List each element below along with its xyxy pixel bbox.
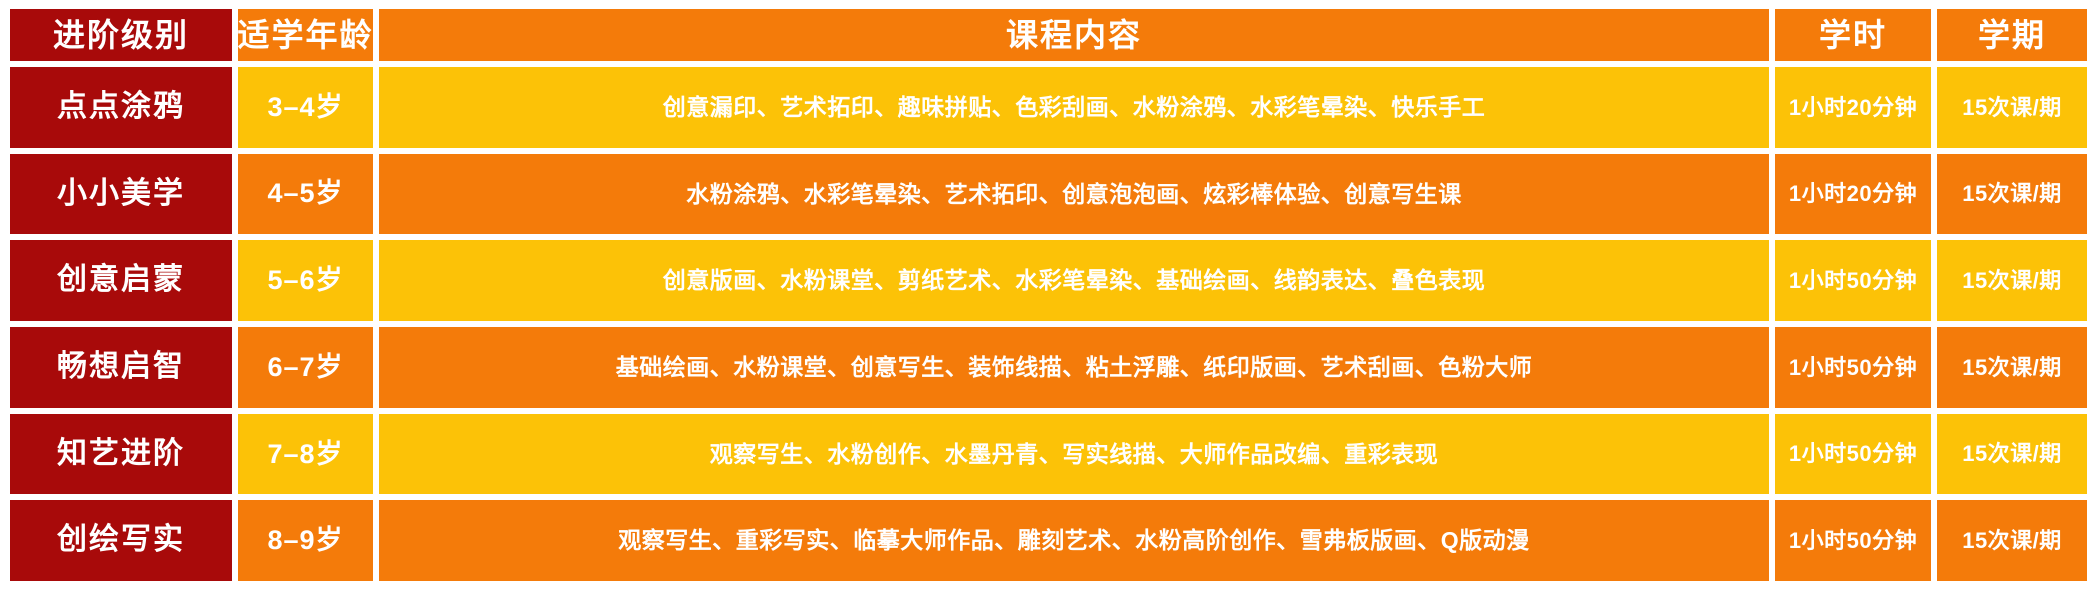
cell-level: 创意启蒙 <box>10 240 232 321</box>
cell-age: 6–7岁 <box>238 327 373 408</box>
cell-hours: 1小时20分钟 <box>1775 154 1931 235</box>
table-row: 畅想启智 6–7岁 基础绘画、水粉课堂、创意写生、装饰线描、粘土浮雕、纸印版画、… <box>7 324 2090 411</box>
cell-age: 5–6岁 <box>238 240 373 321</box>
column-header-age: 适学年龄 <box>238 9 373 61</box>
cell-term: 15次课/期 <box>1937 500 2087 581</box>
table-row: 知艺进阶 7–8岁 观察写生、水粉创作、水墨丹青、写实线描、大师作品改编、重彩表… <box>7 411 2090 498</box>
cell-age: 7–8岁 <box>238 414 373 495</box>
table-row: 创绘写实 8–9岁 观察写生、重彩写实、临摹大师作品、雕刻艺术、水粉高阶创作、雪… <box>7 497 2090 584</box>
cell-content: 水粉涂鸦、水彩笔晕染、艺术拓印、创意泡泡画、炫彩棒体验、创意写生课 <box>379 154 1769 235</box>
column-header-level: 进阶级别 <box>10 9 232 61</box>
table-header-row: 进阶级别 适学年龄 课程内容 学时 学期 <box>7 6 2090 64</box>
table-row: 小小美学 4–5岁 水粉涂鸦、水彩笔晕染、艺术拓印、创意泡泡画、炫彩棒体验、创意… <box>7 151 2090 238</box>
cell-hours: 1小时50分钟 <box>1775 500 1931 581</box>
course-level-table: 进阶级别 适学年龄 课程内容 学时 学期 点点涂鸦 3–4岁 创意漏印、艺术拓印… <box>0 0 2097 591</box>
cell-level: 畅想启智 <box>10 327 232 408</box>
cell-level: 知艺进阶 <box>10 414 232 495</box>
cell-term: 15次课/期 <box>1937 414 2087 495</box>
cell-hours: 1小时20分钟 <box>1775 67 1931 148</box>
cell-content: 创意漏印、艺术拓印、趣味拼贴、色彩刮画、水粉涂鸦、水彩笔晕染、快乐手工 <box>379 67 1769 148</box>
cell-term: 15次课/期 <box>1937 67 2087 148</box>
column-header-hours: 学时 <box>1775 9 1931 61</box>
cell-content: 观察写生、重彩写实、临摹大师作品、雕刻艺术、水粉高阶创作、雪弗板版画、Q版动漫 <box>379 500 1769 581</box>
cell-content: 创意版画、水粉课堂、剪纸艺术、水彩笔晕染、基础绘画、线韵表达、叠色表现 <box>379 240 1769 321</box>
cell-age: 4–5岁 <box>238 154 373 235</box>
cell-content: 基础绘画、水粉课堂、创意写生、装饰线描、粘土浮雕、纸印版画、艺术刮画、色粉大师 <box>379 327 1769 408</box>
cell-term: 15次课/期 <box>1937 240 2087 321</box>
column-header-content: 课程内容 <box>379 9 1769 61</box>
cell-age: 8–9岁 <box>238 500 373 581</box>
table-row: 创意启蒙 5–6岁 创意版画、水粉课堂、剪纸艺术、水彩笔晕染、基础绘画、线韵表达… <box>7 237 2090 324</box>
cell-level: 点点涂鸦 <box>10 67 232 148</box>
cell-level: 创绘写实 <box>10 500 232 581</box>
cell-term: 15次课/期 <box>1937 327 2087 408</box>
cell-level: 小小美学 <box>10 154 232 235</box>
cell-hours: 1小时50分钟 <box>1775 240 1931 321</box>
cell-hours: 1小时50分钟 <box>1775 414 1931 495</box>
cell-term: 15次课/期 <box>1937 154 2087 235</box>
table-row: 点点涂鸦 3–4岁 创意漏印、艺术拓印、趣味拼贴、色彩刮画、水粉涂鸦、水彩笔晕染… <box>7 64 2090 151</box>
cell-age: 3–4岁 <box>238 67 373 148</box>
cell-content: 观察写生、水粉创作、水墨丹青、写实线描、大师作品改编、重彩表现 <box>379 414 1769 495</box>
cell-hours: 1小时50分钟 <box>1775 327 1931 408</box>
column-header-term: 学期 <box>1937 9 2087 61</box>
